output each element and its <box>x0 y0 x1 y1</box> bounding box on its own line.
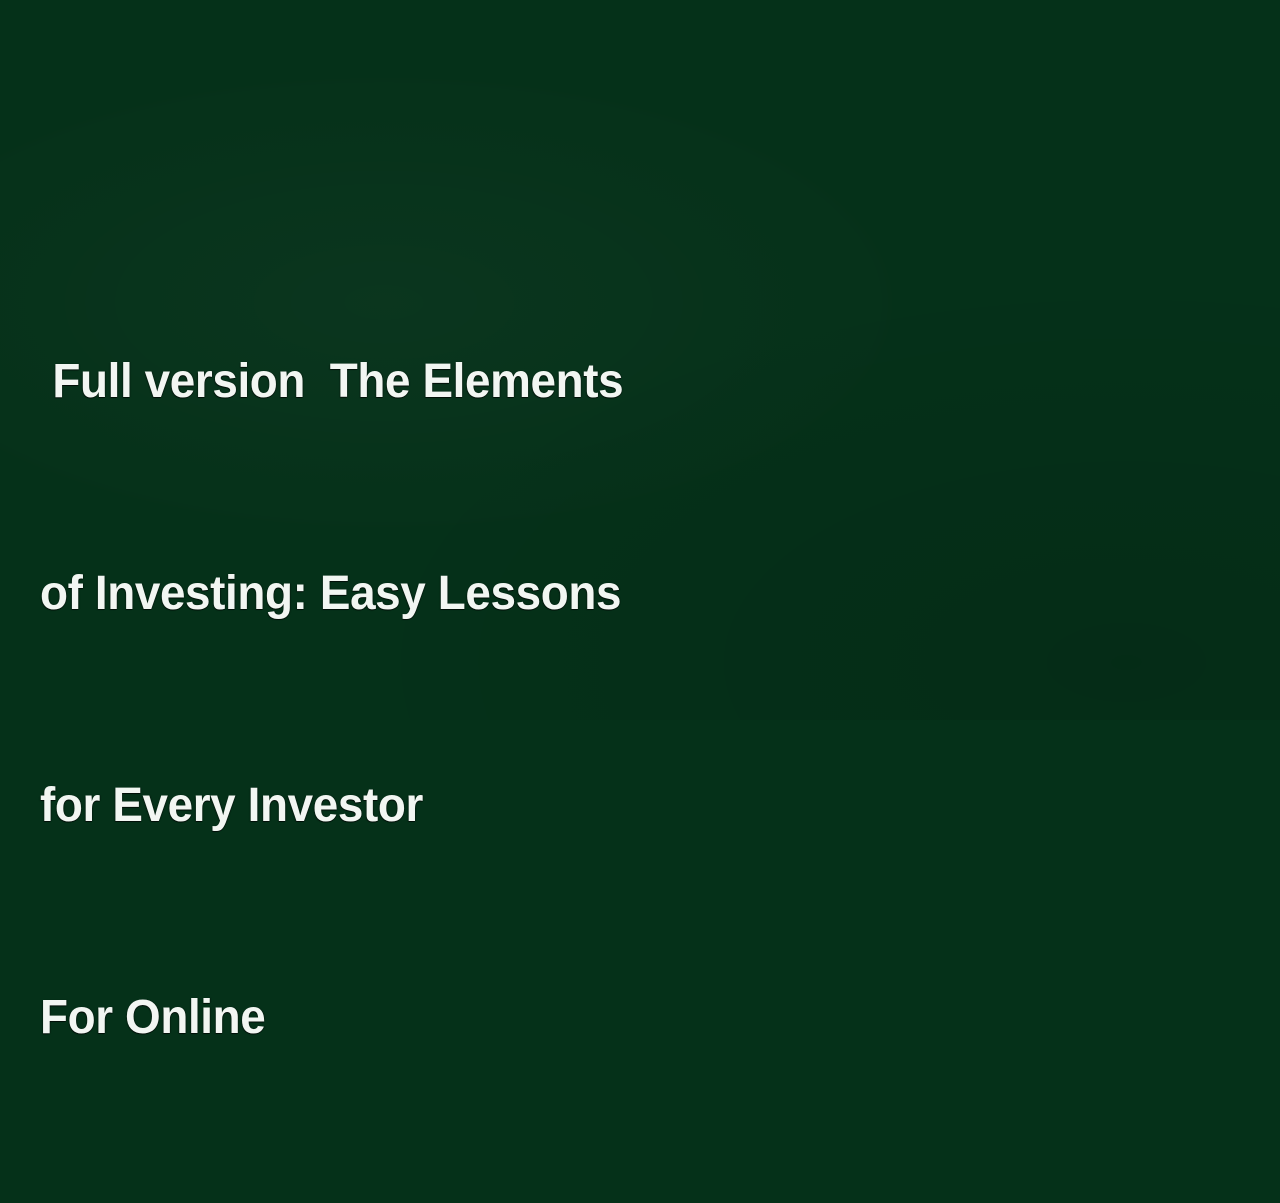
promo-headline-line-1: Full version The Elements <box>40 355 709 408</box>
promo-headline-line-3: for Every Investor <box>40 779 709 832</box>
promo-headline: Full version The Elements of Investing: … <box>40 196 709 1203</box>
promo-title-card: Full version The Elements of Investing: … <box>0 0 1280 720</box>
promo-headline-line-4: For Online <box>40 991 709 1044</box>
promo-headline-line-2: of Investing: Easy Lessons <box>40 567 709 620</box>
